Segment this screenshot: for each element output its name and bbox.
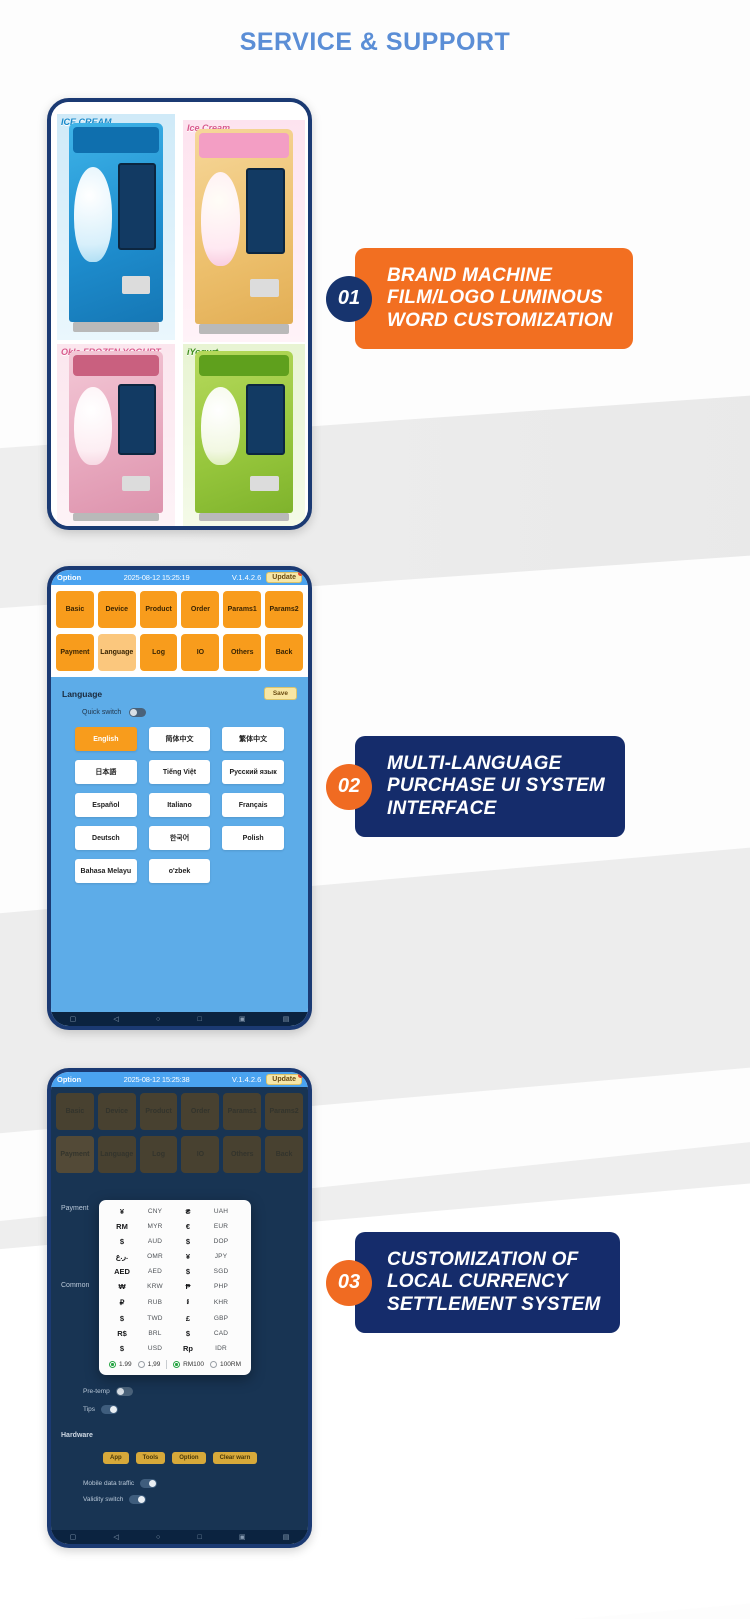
tab-log[interactable]: Log [140, 634, 178, 671]
currency-code[interactable]: PHP [201, 1283, 241, 1290]
language-option-korean[interactable]: 한국어 [149, 826, 211, 850]
tab-params2[interactable]: Params2 [265, 591, 303, 628]
currency-code[interactable]: JPY [201, 1253, 241, 1260]
currency-symbol[interactable]: £ [175, 1314, 201, 1323]
hardware-button-tools[interactable]: Tools [136, 1452, 166, 1464]
machine-photo-3: Okla FROZEN YOGURT [57, 344, 175, 528]
currency-symbol[interactable]: ₱ [175, 1282, 201, 1291]
hardware-button-option[interactable]: Option [172, 1452, 205, 1464]
callout-badge-03: 03 [326, 1260, 372, 1306]
status-version: V.1.4.2.6 [232, 573, 261, 582]
callout-card-02: MULTI-LANGUAGE PURCHASE UI SYSTEM INTERF… [355, 736, 625, 837]
radio-group-divider [166, 1360, 167, 1369]
nav-icon-apps[interactable]: ▣ [239, 1015, 246, 1023]
validity-switch-toggle[interactable] [129, 1495, 146, 1504]
tips-toggle[interactable] [101, 1405, 118, 1414]
nav-icon-home[interactable]: ○ [156, 1016, 160, 1023]
settings-tab-grid-row1: Basic Device Product Order Params1 Param… [51, 585, 308, 634]
tips-row: Tips [83, 1405, 118, 1414]
vending-machine-icon-yellow [195, 129, 293, 324]
label-payment: Payment [61, 1205, 89, 1212]
language-option-malay[interactable]: Bahasa Melayu [75, 859, 137, 883]
quick-switch-label: Quick switch [82, 709, 121, 716]
currency-symbol[interactable]: ¥ [109, 1207, 135, 1216]
language-option-japanese[interactable]: 日本語 [75, 760, 137, 784]
language-option-german[interactable]: Deutsch [75, 826, 137, 850]
callout-line: FILM/LOGO LUMINOUS [387, 287, 613, 309]
radio-dot-icon [138, 1361, 145, 1368]
callout-line: WORD CUSTOMIZATION [387, 310, 613, 332]
callout-card-03: CUSTOMIZATION OF LOCAL CURRENCY SETTLEME… [355, 1232, 620, 1333]
callout-line: INTERFACE [387, 798, 605, 820]
callout-line: PURCHASE UI SYSTEM [387, 775, 605, 797]
currency-code[interactable]: KHR [201, 1299, 241, 1306]
nav-icon-square[interactable]: □ [197, 1016, 201, 1023]
tab-back[interactable]: Back [265, 634, 303, 671]
nav-icon-menu[interactable]: ▤ [283, 1015, 290, 1023]
currency-code[interactable]: USD [135, 1345, 175, 1352]
update-notification-dot-currency [298, 1073, 303, 1078]
hardware-button-app[interactable]: App [103, 1452, 129, 1464]
pre-temp-row: Pre-temp [83, 1387, 133, 1396]
currency-symbol[interactable]: RM [109, 1222, 135, 1231]
save-button[interactable]: Save [264, 687, 297, 700]
price-format-radio-group: 1.99 1,99 RM100 100RM [103, 1353, 247, 1370]
hardware-button-clear-warn[interactable]: Clear warn [213, 1452, 258, 1464]
vending-machine-icon-blue [69, 123, 163, 322]
machine-photo-2: Ice Cream [183, 120, 305, 342]
currency-code[interactable]: OMR [135, 1253, 175, 1260]
vending-machine-icon-green [195, 351, 293, 513]
currency-symbol[interactable]: $ [109, 1344, 135, 1353]
radio-dot-icon [109, 1361, 116, 1368]
phone-mockup-product-photo: ICE CREAM Ice Cream Okla FROZEN YOGURT [47, 98, 312, 530]
currency-symbol[interactable]: $ [109, 1237, 135, 1246]
currency-code[interactable]: EUR [201, 1223, 241, 1230]
currency-symbol[interactable]: ¥ [175, 1252, 201, 1261]
vending-machine-collage: ICE CREAM Ice Cream Okla FROZEN YOGURT [51, 102, 308, 526]
currency-symbol[interactable]: ₽ [109, 1298, 135, 1307]
tips-label: Tips [83, 1406, 95, 1413]
currency-symbol[interactable]: ₩ [109, 1282, 135, 1291]
currency-symbol[interactable]: ៛ [175, 1297, 201, 1308]
language-option-polish[interactable]: Polish [222, 826, 284, 850]
page-title: SERVICE & SUPPORT [0, 28, 750, 57]
app-title: Option [57, 573, 81, 582]
radio-symbol-suffix[interactable]: 100RM [210, 1361, 241, 1368]
callout-badge-02: 02 [326, 764, 372, 810]
currency-symbol[interactable]: € [175, 1222, 201, 1231]
tab-order[interactable]: Order [181, 591, 219, 628]
status-version-currency: V.1.4.2.6 [232, 1075, 261, 1084]
quick-switch-toggle[interactable] [129, 708, 146, 717]
vending-machine-icon-pink [69, 351, 163, 513]
currency-code[interactable]: IDR [201, 1345, 241, 1352]
pre-temp-label: Pre-temp [83, 1388, 110, 1395]
currency-symbol[interactable]: $ [175, 1329, 201, 1338]
callout-02: 02 MULTI-LANGUAGE PURCHASE UI SYSTEM INT… [326, 736, 625, 837]
app-status-bar-currency: Option 2025-08-12 15:25:38 V.1.4.2.6 Upd… [51, 1072, 308, 1087]
currency-code[interactable]: TWD [135, 1315, 175, 1322]
language-option-english[interactable]: English [75, 727, 137, 751]
radio-dot-icon [210, 1361, 217, 1368]
callout-03: 03 CUSTOMIZATION OF LOCAL CURRENCY SETTL… [326, 1232, 620, 1333]
callout-badge-01: 01 [326, 276, 372, 322]
android-navigation-bar-currency: ▢ ◁ ○ □ ▣ ▤ [51, 1530, 308, 1544]
currency-symbol[interactable]: $ [175, 1237, 201, 1246]
currency-code[interactable]: DOP [201, 1238, 241, 1245]
currency-grid: ¥ CNY ₴ UAH RM MYR € EUR $ AUD $ DOP ر.ع… [103, 1207, 247, 1353]
validity-switch-row: Validity switch [83, 1495, 146, 1504]
currency-code[interactable]: KRW [135, 1283, 175, 1290]
language-option-traditional-chinese[interactable]: 繁体中文 [222, 727, 284, 751]
nav-icon-home[interactable]: ○ [156, 1534, 160, 1541]
currency-code[interactable]: CAD [201, 1330, 241, 1337]
language-option-simplified-chinese[interactable]: 简体中文 [149, 727, 211, 751]
tab-payment[interactable]: Payment [56, 634, 94, 671]
currency-code[interactable]: RUB [135, 1299, 175, 1306]
tab-device[interactable]: Device [98, 591, 136, 628]
radio-decimal-comma[interactable]: 1,99 [138, 1361, 161, 1368]
callout-01: 01 BRAND MACHINE FILM/LOGO LUMINOUS WORD… [326, 248, 633, 349]
radio-label: 1,99 [148, 1361, 161, 1368]
currency-symbol[interactable]: Rp [175, 1344, 201, 1353]
language-option-uzbek[interactable]: o'zbek [149, 859, 211, 883]
language-option-french[interactable]: Français [222, 793, 284, 817]
nav-icon-apps[interactable]: ▣ [239, 1533, 246, 1541]
section-title-language: Language [62, 689, 102, 699]
update-notification-dot [298, 571, 303, 576]
currency-code[interactable]: MYR [135, 1223, 175, 1230]
tab-others[interactable]: Others [223, 634, 261, 671]
callout-card-01: BRAND MACHINE FILM/LOGO LUMINOUS WORD CU… [355, 248, 633, 349]
language-option-vietnamese[interactable]: Tiếng Việt [149, 760, 211, 784]
nav-icon-recents[interactable]: ▢ [70, 1533, 77, 1541]
update-button-currency[interactable]: Update [266, 1074, 302, 1085]
language-option-italian[interactable]: Italiano [149, 793, 211, 817]
status-datetime: 2025-08-12 15:25:19 [81, 573, 232, 582]
page-root: SERVICE & SUPPORT ICE CREAM Ice Cream [0, 0, 750, 1619]
payment-panel: Basic Device Product Order Params1 Param… [51, 1087, 308, 1548]
tab-language[interactable]: Language [98, 634, 136, 671]
label-hardware: Hardware [61, 1432, 93, 1439]
currency-picker-dialog: ¥ CNY ₴ UAH RM MYR € EUR $ AUD $ DOP ر.ع… [99, 1200, 251, 1375]
radio-decimal-dot[interactable]: 1.99 [109, 1361, 132, 1368]
currency-symbol[interactable]: ₴ [175, 1207, 201, 1216]
app-title-currency: Option [57, 1075, 81, 1084]
radio-label: 1.99 [119, 1361, 132, 1368]
radio-symbol-prefix[interactable]: RM100 [173, 1361, 204, 1368]
nav-icon-menu[interactable]: ▤ [283, 1533, 290, 1541]
callout-line: BRAND MACHINE [387, 265, 613, 287]
app-status-bar: Option 2025-08-12 15:25:19 V.1.4.2.6 Upd… [51, 570, 308, 585]
update-button[interactable]: Update [266, 572, 302, 583]
callout-line: LOCAL CURRENCY [387, 1271, 600, 1293]
nav-icon-back[interactable]: ◁ [113, 1015, 118, 1023]
language-option-grid: English 简体中文 繁体中文 日本語 Tiếng Việt Русский… [60, 727, 299, 883]
status-datetime-currency: 2025-08-12 15:25:38 [81, 1075, 232, 1084]
mobile-data-toggle[interactable] [140, 1479, 157, 1488]
language-section-header: Language Save [60, 685, 299, 708]
hardware-button-row: App Tools Option Clear warn [103, 1452, 257, 1464]
currency-symbol[interactable]: $ [175, 1267, 201, 1276]
callout-line: MULTI-LANGUAGE [387, 753, 605, 775]
android-navigation-bar: ▢ ◁ ○ □ ▣ ▤ [51, 1012, 308, 1026]
radio-label: RM100 [183, 1361, 204, 1368]
tab-params1[interactable]: Params1 [223, 591, 261, 628]
currency-code[interactable]: SGD [201, 1268, 241, 1275]
label-common: Common [61, 1282, 89, 1289]
language-option-russian[interactable]: Русский язык [222, 760, 284, 784]
tab-basic[interactable]: Basic [56, 591, 94, 628]
machine-photo-4: iYogurt [183, 344, 305, 528]
pre-temp-toggle[interactable] [116, 1387, 133, 1396]
mobile-data-label: Mobile data traffic [83, 1480, 134, 1487]
nav-icon-back[interactable]: ◁ [113, 1533, 118, 1541]
machine-photo-1: ICE CREAM [57, 114, 175, 340]
validity-switch-label: Validity switch [83, 1496, 123, 1503]
currency-code[interactable]: GBP [201, 1315, 241, 1322]
currency-symbol[interactable]: $ [109, 1314, 135, 1323]
currency-symbol[interactable]: AED [109, 1267, 135, 1276]
language-panel: Language Save Quick switch English 简体中文 … [51, 677, 308, 1030]
callout-line: SETTLEMENT SYSTEM [387, 1294, 600, 1316]
currency-symbol[interactable]: R$ [109, 1329, 135, 1338]
tab-io[interactable]: IO [181, 634, 219, 671]
currency-code[interactable]: CNY [135, 1208, 175, 1215]
tab-product[interactable]: Product [140, 591, 178, 628]
currency-code[interactable]: AED [135, 1268, 175, 1275]
currency-code[interactable]: AUD [135, 1238, 175, 1245]
settings-tab-grid-row2: Payment Language Log IO Others Back [51, 634, 308, 677]
phone-mockup-currency-settings: Option 2025-08-12 15:25:38 V.1.4.2.6 Upd… [47, 1068, 312, 1548]
nav-icon-recents[interactable]: ▢ [70, 1015, 77, 1023]
radio-dot-icon [173, 1361, 180, 1368]
radio-label: 100RM [220, 1361, 241, 1368]
nav-icon-square[interactable]: □ [197, 1534, 201, 1541]
phone-mockup-language-settings: Option 2025-08-12 15:25:19 V.1.4.2.6 Upd… [47, 566, 312, 1030]
quick-switch-row: Quick switch [60, 708, 299, 717]
mobile-data-row: Mobile data traffic [83, 1479, 157, 1488]
language-option-spanish[interactable]: Español [75, 793, 137, 817]
currency-code[interactable]: BRL [135, 1330, 175, 1337]
callout-line: CUSTOMIZATION OF [387, 1249, 600, 1271]
currency-symbol[interactable]: ر.ع. [109, 1252, 135, 1261]
currency-code[interactable]: UAH [201, 1208, 241, 1215]
